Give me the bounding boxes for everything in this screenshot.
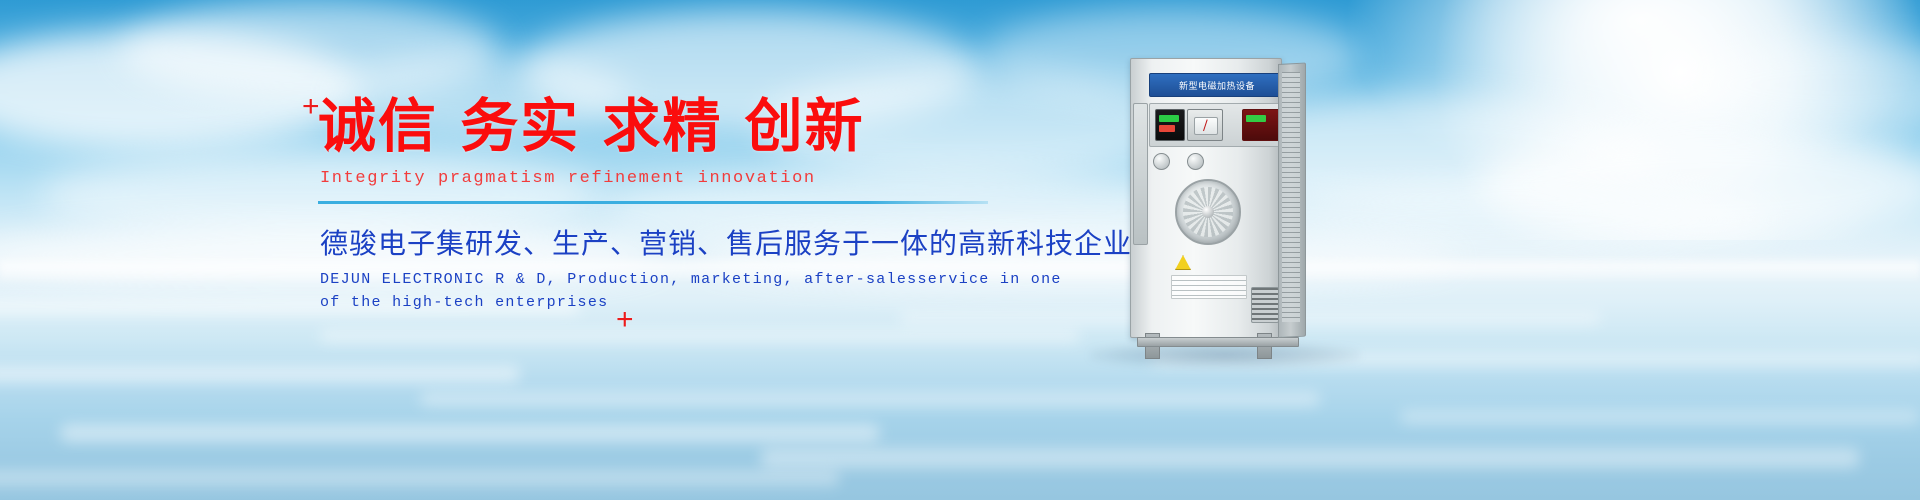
cooling-fan-icon (1175, 179, 1241, 245)
description-english-line-1: DEJUN ELECTRONIC R & D, Production, mark… (320, 271, 1078, 288)
cabinet-base (1137, 337, 1299, 347)
control-knob-icon (1153, 153, 1170, 170)
analog-gauge (1187, 109, 1223, 141)
water-streak (420, 392, 1320, 406)
display-segment (1246, 115, 1266, 122)
plus-decoration-icon: + (302, 92, 320, 122)
display-segment (1159, 125, 1175, 132)
product-nameplate-label: 新型电磁加热设备 (1179, 79, 1255, 92)
headline-chinese: 诚信 务实 求精 创新 (318, 96, 1078, 157)
product-nameplate: 新型电磁加热设备 (1149, 73, 1285, 97)
product-cabinet: 新型电磁加热设备 (1130, 58, 1282, 338)
divider-rule (318, 201, 988, 204)
digital-display (1155, 109, 1185, 141)
water-streak (60, 424, 880, 442)
hero-banner: + + 诚信 务实 求精 创新 Integrity pragmatism ref… (0, 0, 1920, 500)
display-segment (1159, 115, 1179, 122)
water-streak (320, 330, 1080, 342)
product-image: 新型电磁加热设备 (1120, 58, 1310, 358)
description-chinese: 德骏电子集研发、生产、营销、售后服务于一体的高新科技企业 (320, 222, 1078, 262)
headline-english: Integrity pragmatism refinement innovati… (320, 169, 1078, 188)
control-knob-icon (1187, 153, 1204, 170)
description-english-line-2: of the high-tech enterprises (320, 294, 1078, 311)
warning-triangle-icon (1175, 255, 1191, 270)
water-streak (760, 448, 1860, 468)
water-streak (0, 470, 840, 486)
side-vent-louvers (1282, 72, 1300, 322)
side-trim-strip (1133, 103, 1148, 245)
water-streak (1400, 410, 1920, 424)
spec-sticker (1171, 275, 1247, 299)
water-streak (0, 366, 520, 382)
indicator-module (1242, 109, 1280, 141)
banner-copy: 诚信 务实 求精 创新 Integrity pragmatism refinem… (318, 96, 1078, 311)
control-panel (1149, 103, 1285, 147)
vent-grille (1251, 287, 1279, 323)
control-knob-row (1153, 153, 1243, 171)
